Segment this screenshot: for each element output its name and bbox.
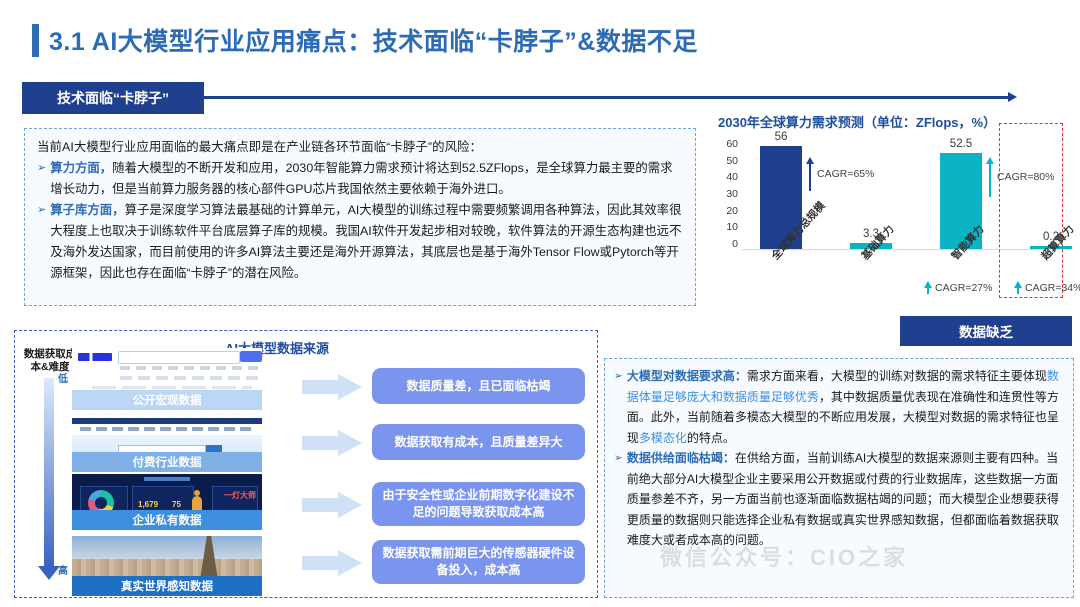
chart-y-tick: 0: [732, 239, 738, 249]
cost-axis-label: 数据获取成本&难度: [22, 348, 78, 374]
data-source-thumbnail[interactable]: 公开宏观数据: [72, 348, 262, 410]
annotation-label: CAGR=65%: [817, 168, 874, 180]
tech-bottleneck-textbox: 当前AI大模型行业应用面临的最大痛点即是在产业链各环节面临“卡脖子”的风险： ➢…: [24, 128, 696, 306]
data-bullet-body: 大模型对数据要求高：需求方面来看，大模型的训练对数据的需求特征主要体现数据体量足…: [627, 366, 1062, 448]
chart-y-tick: 30: [726, 189, 738, 199]
tech-bullet-1-keyword: 算力方面，: [50, 161, 112, 175]
data-bullet-text: 需求方面来看，大模型的训练对数据的需求特征主要体现: [747, 369, 1047, 383]
page-title-row: 3.1 AI大模型行业应用痛点：技术面临“卡脖子”&数据不足: [32, 22, 698, 58]
chart-y-axis: 6050403020100: [712, 139, 738, 249]
thumbnail-caption: 真实世界感知数据: [72, 576, 262, 596]
up-arrow-icon: [924, 281, 932, 294]
chart-annotation-cagr-super: CAGR=34%: [1014, 281, 1080, 294]
baidu-logo-icon: [78, 353, 112, 361]
slide-root: 3.1 AI大模型行业应用痛点：技术面临“卡脖子”&数据不足 技术面临“卡脖子”…: [0, 0, 1080, 607]
dashboard-highlight: 一灯大师: [224, 490, 256, 501]
data-bullet-text: 在供给方面，当前训练AI大模型的数据来源则主要有四种。当前绝大部分AI大模型企业…: [627, 451, 1059, 547]
chart-annotation-cagr-total: CAGR=65%: [806, 157, 874, 191]
data-source-thumbnail[interactable]: 1,67975一灯大师企业私有数据: [72, 474, 262, 530]
cost-arrow-head-icon: [38, 566, 60, 580]
chart-bar-value: 52.5: [926, 138, 996, 150]
thumbnail-caption: 公开宏观数据: [72, 390, 262, 410]
data-bullet-body: 数据供给面临枯竭：在供给方面，当前训练AI大模型的数据来源则主要有四种。当前绝大…: [627, 448, 1062, 551]
data-banner-label: 数据缺乏: [959, 321, 1013, 341]
chart-annotation-cagr-intelligent: CAGR=80%: [986, 157, 1054, 197]
eiffel-tower-icon: [200, 536, 218, 580]
dashboard-metric: 75: [172, 500, 181, 509]
data-bullet-text: 的特点。: [687, 431, 735, 445]
cost-gradient-arrow-icon: [44, 378, 54, 568]
site-topbar: [72, 418, 262, 424]
dashboard-title: [144, 477, 190, 481]
result-tabs: [120, 366, 260, 370]
search-button: [240, 351, 262, 362]
section-banner-label: 技术面临“卡脖子”: [57, 88, 169, 108]
tech-intro-line: 当前AI大模型行业应用面临的最大痛点即是在产业链各环节面临“卡脖子”的风险：: [37, 137, 683, 158]
data-bullet-2: ➢数据供给面临枯竭：在供给方面，当前训练AI大模型的数据来源则主要有四种。当前绝…: [614, 448, 1062, 551]
bullet-marker-icon: ➢: [614, 366, 623, 448]
cost-axis-high-label: 高: [58, 562, 68, 577]
chart-y-tick: 10: [726, 222, 738, 232]
bullet-marker-icon: ➢: [37, 158, 46, 200]
pain-point-pill[interactable]: 由于安全性或企业前期数字化建设不足的问题导致获取成本高: [372, 482, 585, 526]
data-bullet-keyword: 大模型对数据要求高：: [627, 369, 747, 383]
section-banner-arrow-icon: [1008, 92, 1017, 102]
result-tags: [120, 376, 260, 380]
up-arrow-icon: [806, 157, 814, 191]
title-accent-bar: [32, 24, 39, 57]
section-banner-data: 数据缺乏: [900, 316, 1072, 346]
chart-bar-value: 56: [746, 131, 816, 143]
watermark: 微信公众号：CIO之家: [660, 540, 908, 572]
data-bullet-highlight: 多模态化: [639, 431, 687, 445]
section-banner-tech: 技术面临“卡脖子”: [22, 82, 204, 114]
up-arrow-icon: [1014, 281, 1022, 294]
compute-demand-chart: 2030年全球算力需求预测（单位：ZFlops，%） 6050403020100…: [712, 112, 1074, 308]
tech-bullet-2: ➢ 算子库方面，算子是深度学习算法最基础的计算单元，AI大模型的训练过程中需要频…: [37, 200, 683, 284]
tech-bullet-2-text: 算子是深度学习算法最基础的计算单元，AI大模型的训练过程中需要频繁调用各种算法，…: [50, 203, 681, 280]
cost-axis-low-label: 低: [58, 370, 68, 385]
bullet-marker-icon: ➢: [614, 448, 623, 551]
thumbnail-caption: 付费行业数据: [72, 452, 262, 472]
annotation-label: CAGR=80%: [997, 171, 1054, 183]
chart-plot-area: 6050403020100 563.352.50.2CAGR=65%CAGR=8…: [712, 139, 1074, 261]
search-input: [118, 351, 240, 364]
tech-bullet-1-body: 算力方面，随着大模型的不断开发和应用，2030年智能算力需求预计将达到52.5Z…: [50, 158, 683, 200]
chart-y-tick: 50: [726, 156, 738, 166]
tech-bullet-2-body: 算子库方面，算子是深度学习算法最基础的计算单元，AI大模型的训练过程中需要频繁调…: [50, 200, 683, 284]
data-bullet-keyword: 数据供给面临枯竭：: [627, 451, 735, 465]
page-title: 3.1 AI大模型行业应用痛点：技术面临“卡脖子”&数据不足: [49, 22, 698, 58]
flow-arrow-icon: [302, 492, 362, 518]
dashboard-metric: 1,679: [138, 500, 158, 509]
result-line: [92, 386, 252, 389]
thumbnail-caption: 企业私有数据: [72, 510, 262, 530]
data-source-thumbnail[interactable]: 付费行业数据: [72, 418, 262, 472]
pain-point-pill[interactable]: 数据获取需前期巨大的传感器硬件设备投入，成本高: [372, 540, 585, 584]
data-source-thumbnail[interactable]: 真实世界感知数据: [72, 536, 262, 596]
sky: [72, 536, 262, 559]
pain-point-pill[interactable]: 数据质量差，且已面临枯竭: [372, 368, 585, 404]
site-nav: [80, 427, 255, 431]
up-arrow-icon: [986, 157, 994, 197]
chart-y-tick: 60: [726, 139, 738, 149]
chart-y-tick: 40: [726, 172, 738, 182]
data-bullet-1: ➢大模型对数据要求高：需求方面来看，大模型的训练对数据的需求特征主要体现数据体量…: [614, 366, 1062, 448]
flow-arrow-icon: [302, 374, 362, 400]
tech-bullet-2-keyword: 算子库方面，: [50, 203, 124, 217]
pain-point-pill[interactable]: 数据获取有成本，且质量差异大: [372, 424, 585, 460]
tech-bullet-1-text: 随着大模型的不断开发和应用，2030年智能算力需求预计将达到52.5ZFlops…: [50, 161, 672, 196]
section-banner-line: [204, 96, 1012, 99]
bullet-marker-icon: ➢: [37, 200, 46, 284]
chart-annotation-cagr-basic: CAGR=27%: [924, 281, 992, 294]
annotation-label: CAGR=34%: [1025, 282, 1080, 294]
chart-y-tick: 20: [726, 206, 738, 216]
flow-arrow-icon: [302, 550, 362, 576]
chart-x-axis: 全球算力总规模基础算力智能算力超算算力CAGR=27%CAGR=34%: [742, 251, 1074, 297]
tech-bullet-1: ➢ 算力方面，随着大模型的不断开发和应用，2030年智能算力需求预计将达到52.…: [37, 158, 683, 200]
annotation-label: CAGR=27%: [935, 282, 992, 294]
flow-arrow-icon: [302, 430, 362, 456]
